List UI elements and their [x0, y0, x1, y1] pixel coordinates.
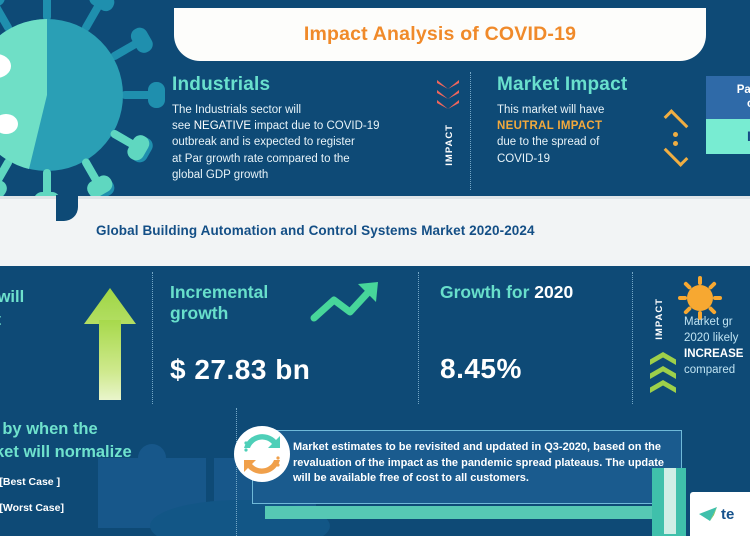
ray [678, 296, 687, 300]
pandemic-impact-box: Pande on IN [706, 76, 750, 154]
industrials-line-4: at Par growth rate compared to the [172, 151, 422, 167]
worst-case-row: 1-2022 [Worst Case] [0, 495, 230, 516]
trending-up-icon [310, 278, 384, 326]
market-title-band: Global Building Automation and Control S… [0, 196, 750, 266]
industrials-line-2-post: impact due to COVID-19 [251, 120, 379, 132]
bottom-panel: ed time by when the on market will norma… [0, 408, 750, 536]
normalize-block: ed time by when the on market will norma… [0, 418, 230, 516]
growth-2020-year: 2020 [534, 282, 573, 302]
chevron-down-icon [437, 80, 459, 89]
page-title-pill: Impact Analysis of COVID-19 [174, 8, 706, 61]
incremental-growth-value: $ 27.83 bn [170, 354, 310, 386]
pandemic-box-value: IN [706, 119, 750, 154]
pandemic-header-line-2: on [712, 97, 750, 111]
note-box-accent-bar [265, 506, 683, 519]
market-title: Global Building Automation and Control S… [96, 223, 535, 238]
chevron-up-icon [650, 352, 676, 365]
refresh-update-icon [234, 426, 290, 482]
best-case-tag: [Best Case ] [0, 476, 60, 488]
note-box: Market estimates to be revisited and upd… [252, 430, 682, 504]
technavio-triangle-icon [698, 506, 718, 522]
pandemic-header-line-1: Pande [712, 83, 750, 97]
incremental-label-line-1: Incremental [170, 282, 310, 303]
incremental-label-line-2: growth [170, 303, 310, 324]
page-title: Impact Analysis of COVID-19 [304, 23, 576, 46]
arrow-head [84, 288, 136, 324]
industrials-negative-emphasis: NEGATIVE [194, 120, 251, 132]
dot [673, 132, 678, 137]
right-impact-line-2: 2020 likely [684, 330, 750, 346]
band-top-rule [0, 196, 750, 199]
logo-text: te [721, 506, 734, 523]
logo-card[interactable]: te [690, 492, 750, 536]
logo-band-inner [664, 468, 676, 534]
worst-case-tag: [Worst Case] [0, 502, 64, 514]
normalize-line-2: on market will normalize [0, 441, 230, 464]
growth-2020-block: Growth for 2020 8.45% [440, 282, 573, 385]
coronavirus-illustration [0, 0, 184, 196]
market-impact-heading: Market Impact [497, 74, 697, 96]
industrials-line-2: see NEGATIVE impact due to COVID-19 [172, 118, 422, 134]
up-down-arrow-icon [661, 112, 691, 164]
ray [708, 281, 717, 290]
incremental-growth-block: Incremental growth $ 27.83 bn [170, 282, 310, 386]
industrials-line-3: outbreak and is expected to register [172, 134, 422, 150]
right-impact-line-4: compared [684, 362, 750, 378]
divider-dotted [632, 272, 633, 404]
arrow-shaft [99, 320, 121, 400]
divider-dotted [418, 272, 419, 404]
note-text: Market estimates to be revisited and upd… [293, 440, 673, 487]
industrials-body: The Industrials sector will see NEGATIVE… [172, 102, 422, 183]
impact-label-left: IMPACT [444, 124, 455, 166]
normalize-line-1: ed time by when the [0, 418, 230, 441]
ray [713, 296, 722, 300]
band-notch [56, 195, 78, 221]
impact-indicator-negative: IMPACT [432, 80, 466, 186]
stats-panel: growth will RATE at of over Incremental … [0, 266, 750, 408]
chevron-up-icon [650, 366, 676, 379]
infographic-root: Impact Analysis of COVID-19 Industrials … [0, 0, 750, 536]
ray [698, 276, 702, 285]
brand-logo[interactable]: te [686, 486, 750, 536]
pandemic-box-header: Pande on [706, 76, 750, 119]
divider-dotted [152, 272, 153, 404]
right-impact-emphasis: INCREASE [684, 346, 750, 362]
best-case-row: 3-2021 [Best Case ] [0, 469, 230, 490]
chevron-down-icon [437, 90, 459, 99]
arrow-down-part [664, 142, 689, 167]
impact-indicator-positive: IMPACT [650, 290, 676, 398]
industrials-line-2-pre: see [172, 120, 194, 132]
industrials-block: Industrials The Industrials sector will … [172, 74, 422, 183]
impact-label-right: IMPACT [654, 298, 665, 340]
growth-2020-value: 8.45% [440, 353, 573, 385]
chevron-down-icon [437, 100, 459, 109]
growth-2020-label-pre: Growth for [440, 282, 534, 302]
growth-2020-label: Growth for 2020 [440, 282, 573, 303]
up-arrow-icon [84, 288, 136, 400]
right-impact-line-1: Market gr [684, 314, 750, 330]
right-impact-text: Market gr 2020 likely INCREASE compared [684, 314, 750, 378]
industrials-heading: Industrials [172, 74, 422, 96]
industrials-line-1: The Industrials sector will [172, 102, 422, 118]
chevron-up-icon [650, 380, 676, 393]
industrials-line-5: global GDP growth [172, 167, 422, 183]
virus-icon [0, 0, 184, 196]
divider-dotted [470, 72, 471, 190]
arrow-up-part [664, 109, 689, 134]
top-panel: Impact Analysis of COVID-19 Industrials … [0, 0, 750, 196]
